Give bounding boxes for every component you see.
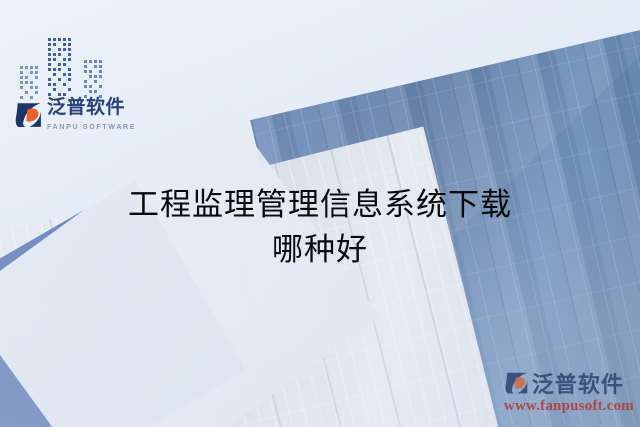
logo-wordmark: 泛普软件 FANPU SOFTWARE	[47, 98, 136, 133]
pixel-skyline-icon	[18, 30, 126, 102]
watermark-name-cn: 泛普软件	[532, 367, 624, 399]
fanpu-swoosh-logo-icon	[14, 100, 44, 130]
watermark: 泛普软件 www.fanpusoft.com	[504, 367, 634, 415]
watermark-url: www.fanpusoft.com	[504, 398, 634, 415]
promo-banner: 泛普软件 FANPU SOFTWARE 工程监理管理信息系统下载 哪种好 泛普软…	[0, 0, 640, 427]
fanpu-swoosh-logo-icon	[504, 370, 530, 396]
brand-lockup: 泛普软件 FANPU SOFTWARE	[14, 30, 134, 133]
brand-name-en: FANPU SOFTWARE	[47, 124, 136, 131]
headline: 工程监理管理信息系统下载 哪种好	[0, 183, 640, 273]
headline-line-1: 工程监理管理信息系统下载	[128, 187, 512, 223]
watermark-logo-row: 泛普软件	[504, 367, 634, 399]
logo-row: 泛普软件 FANPU SOFTWARE	[14, 98, 134, 133]
headline-line-2: 哪种好	[0, 228, 640, 273]
